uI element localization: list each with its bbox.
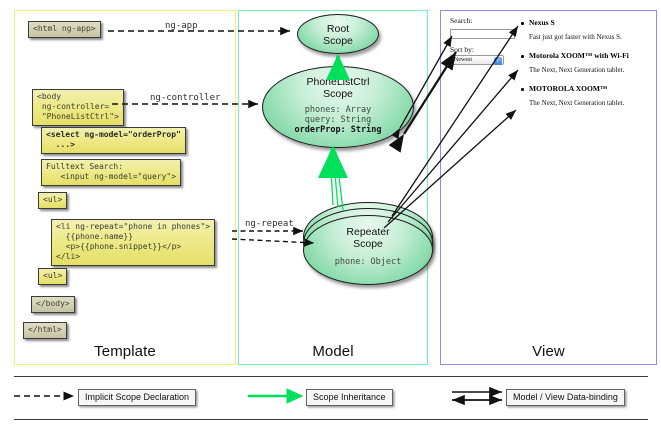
view-search-form: Search: Sort by: Newest ↕ [450, 16, 516, 65]
scope-prop-query: query: String [263, 115, 413, 125]
code-block-select-tag: <select ng-model="orderProp" ...> [41, 127, 186, 154]
sort-by-select[interactable]: Newest ↕ [450, 55, 504, 65]
scope-phonelistctrl-title: PhoneListCtrl Scope [263, 76, 413, 100]
legend-bottom-divider [14, 419, 648, 420]
code-block-html-tag: <html ng-app> [28, 21, 101, 38]
scope-repeater: Repeater Scope phone: Object [303, 215, 433, 285]
phone-name: Motorola XOOM™ with Wi-Fi [520, 51, 652, 61]
list-item: Motorola XOOM™ with Wi-Fi The Next, Next… [520, 51, 652, 75]
edge-label-ng-controller: ng-controller [150, 93, 220, 103]
scope-root-title-line2: Scope [298, 35, 378, 47]
scope-root: Root Scope [297, 14, 379, 54]
scope-phonelistctrl-title-line1: PhoneListCtrl [263, 76, 413, 88]
legend-item-model-view-data-binding: Model / View Data-binding [506, 389, 625, 406]
edge-label-ng-repeat: ng-repeat [245, 219, 294, 229]
panel-view-label: View [441, 343, 656, 360]
code-block-ul-open: <ul> [38, 192, 67, 209]
scope-repeater-title-line1: Repeater [304, 226, 432, 238]
legend-item-scope-inheritance: Scope Inheritance [306, 389, 393, 406]
scope-repeater-title-line2: Scope [304, 238, 432, 250]
code-block-html-close: </html> [23, 322, 67, 339]
scope-prop-phones: phones: Array [263, 105, 413, 115]
scope-prop-phone: phone: Object [304, 257, 432, 267]
legend: Implicit Scope Declaration Scope Inherit… [14, 376, 648, 420]
edge-label-ng-app: ng-app [165, 21, 198, 31]
code-block-ul-close: <ul> [38, 268, 67, 285]
scope-phonelistctrl-title-line2: Scope [263, 88, 413, 100]
chevron-updown-icon: ↕ [494, 57, 502, 65]
search-label: Search: [450, 16, 516, 25]
scope-root-title: Root Scope [298, 23, 378, 47]
scope-prop-orderprop: orderProp: String [263, 125, 413, 135]
phone-snippet: Fast just got faster with Nexus S. [520, 32, 652, 42]
scope-repeater-title: Repeater Scope [304, 226, 432, 250]
scope-root-title-line1: Root [298, 23, 378, 35]
scope-phonelistctrl: PhoneListCtrl Scope phones: Array query:… [262, 66, 414, 148]
scope-phonelistctrl-props: phones: Array query: String orderProp: S… [263, 105, 413, 135]
legend-item-implicit-scope-declaration: Implicit Scope Declaration [78, 389, 196, 406]
code-block-input-tag: Fulltext Search: <input ng-model="query"… [41, 159, 181, 186]
phone-name: Nexus S [520, 18, 652, 28]
list-item: Nexus S Fast just got faster with Nexus … [520, 18, 652, 42]
phone-snippet: The Next, Next Generation tablet. [520, 65, 652, 75]
panel-model: Model [238, 10, 428, 365]
phone-name: MOTOROLA XOOM™ [520, 84, 652, 94]
sort-by-label: Sort by: [450, 45, 516, 54]
phone-snippet: The Next, Next Generation tablet. [520, 98, 652, 108]
list-item: MOTOROLA XOOM™ The Next, Next Generation… [520, 84, 652, 108]
phone-list: Nexus S Fast just got faster with Nexus … [520, 18, 652, 117]
panel-model-label: Model [239, 343, 427, 360]
sort-by-selected-value: Newest [451, 57, 472, 63]
code-block-li-repeat: <li ng-repeat="phone in phones"> {{phone… [51, 219, 215, 266]
code-block-body-tag: <body ng-controller= "PhoneListCtrl"> [32, 89, 124, 126]
legend-top-divider [14, 376, 648, 377]
panel-template-label: Template [15, 343, 235, 360]
code-block-body-close: </body> [31, 296, 75, 313]
scope-repeater-props: phone: Object [304, 257, 432, 267]
search-input[interactable] [450, 29, 515, 39]
diagram-canvas: Template Model View <html ng-app> <body … [0, 0, 661, 425]
